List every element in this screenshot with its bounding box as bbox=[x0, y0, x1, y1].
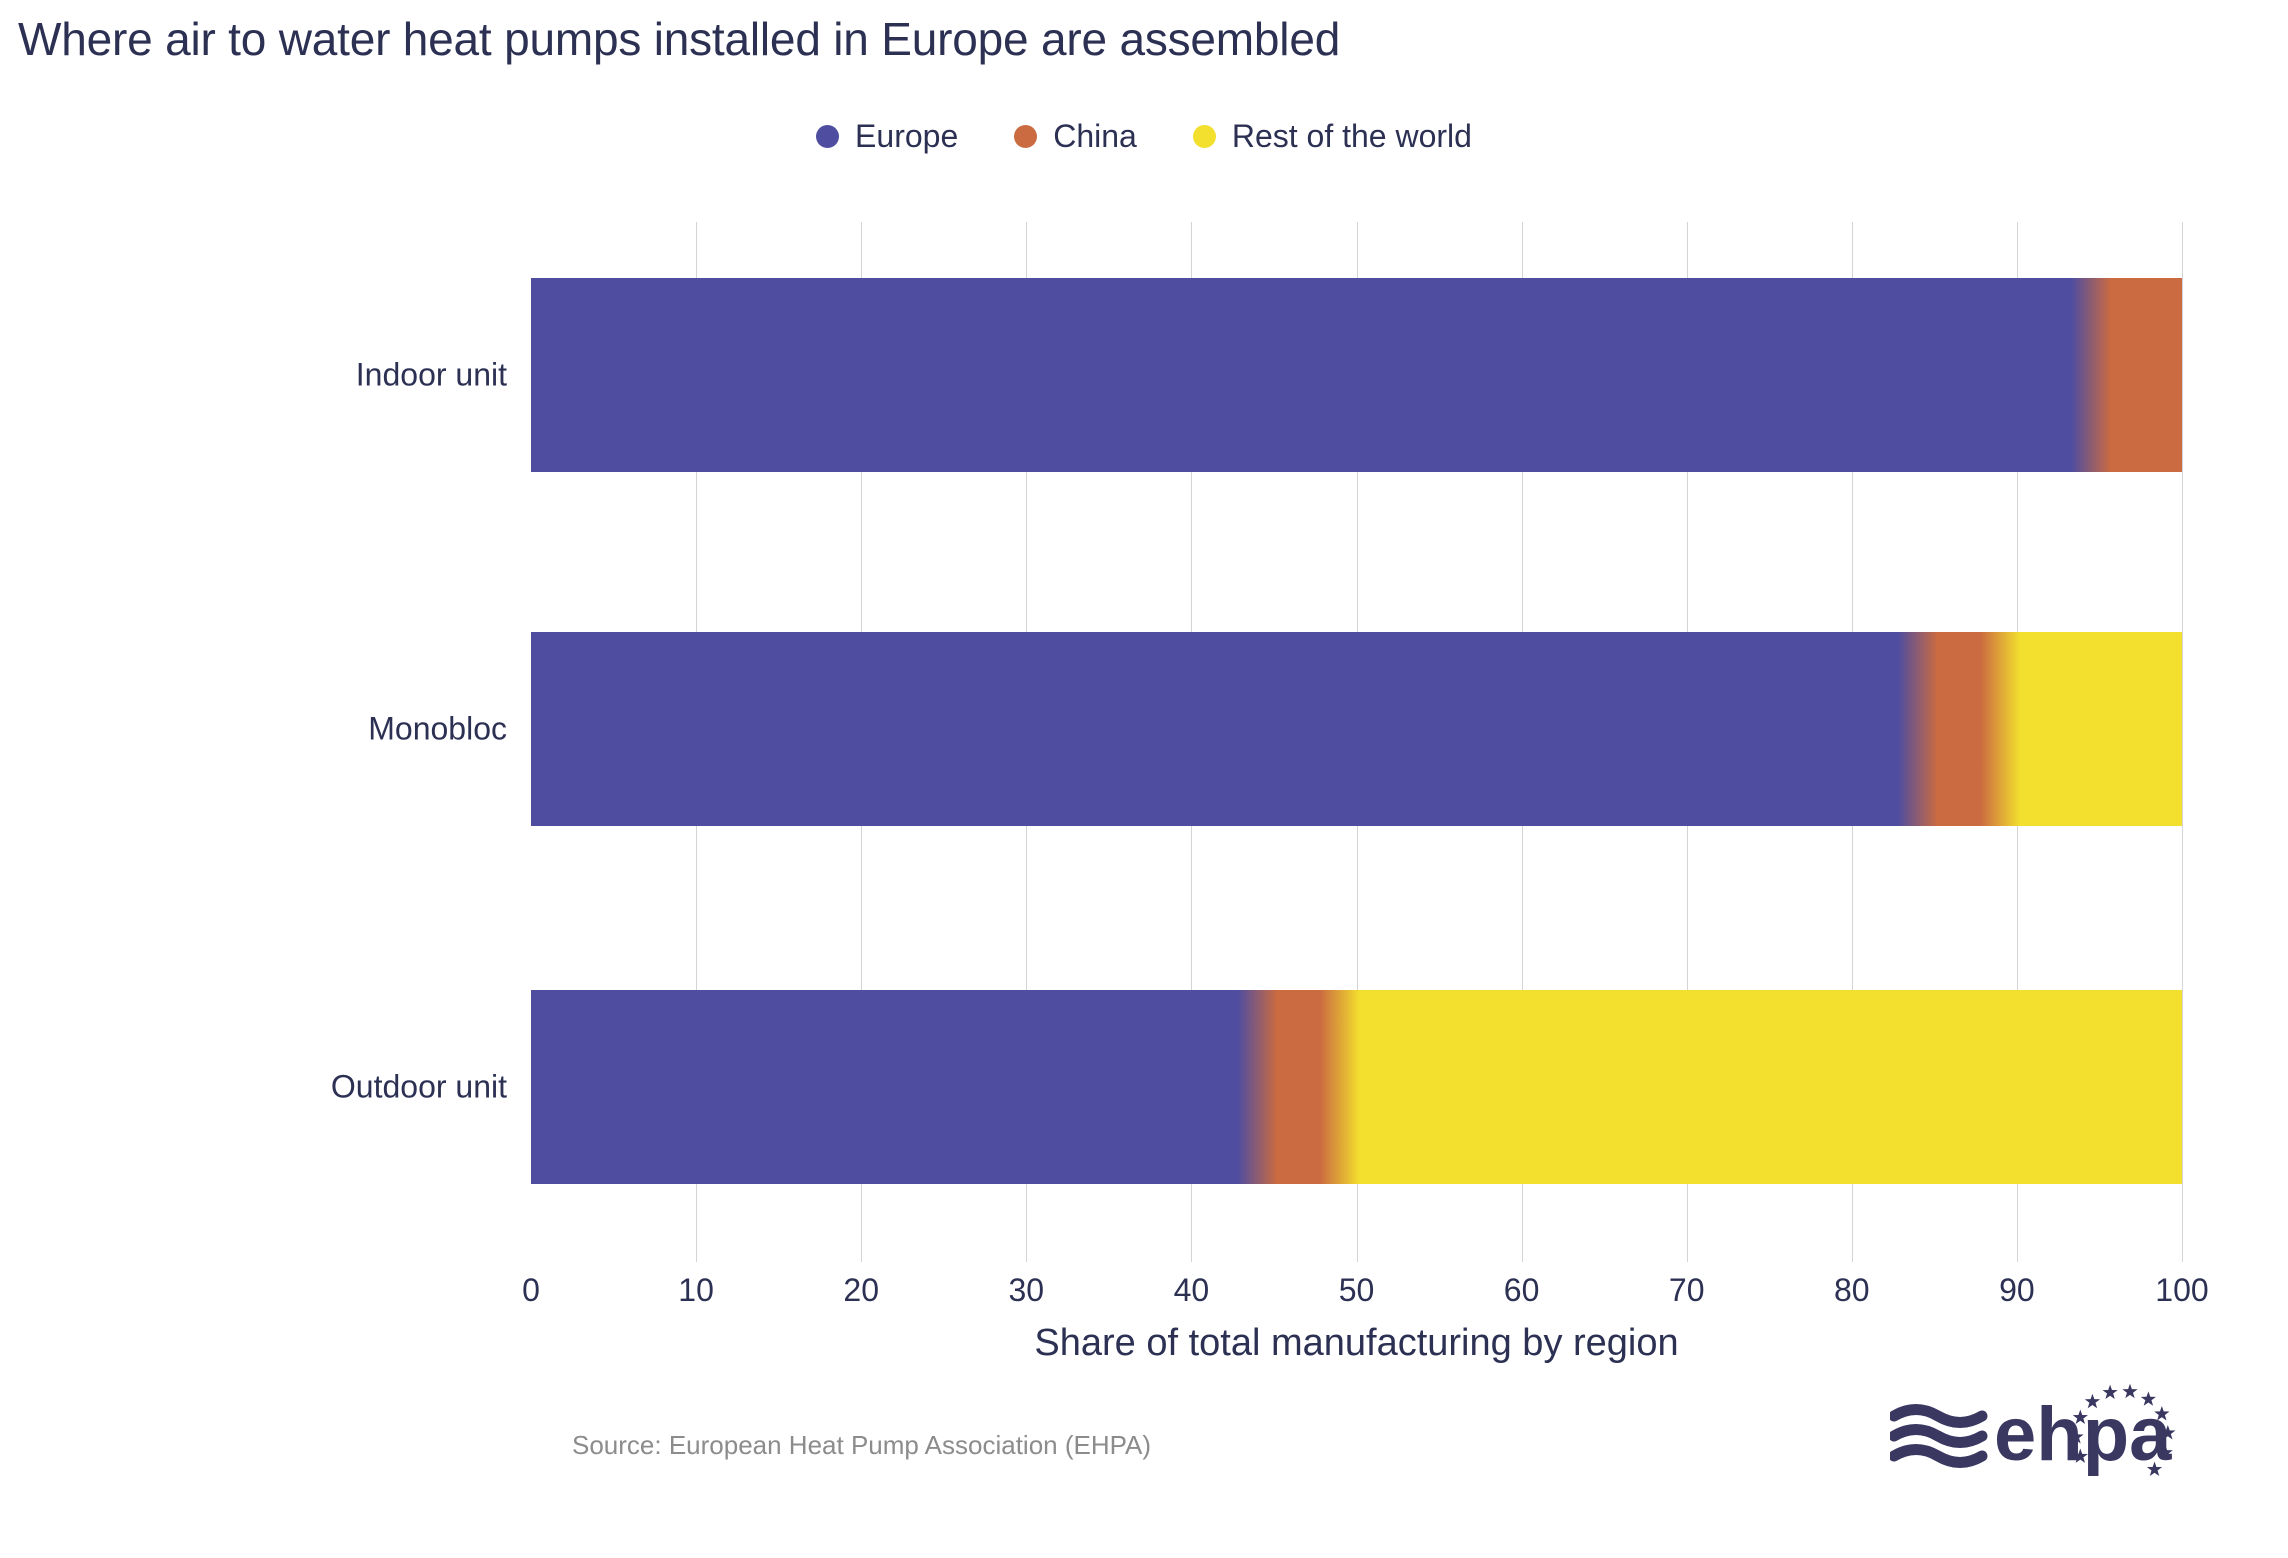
x-axis-tick-label: 100 bbox=[2155, 1272, 2208, 1309]
x-axis-tick-label: 40 bbox=[1174, 1272, 1210, 1309]
y-axis-label-monobloc: Monobloc bbox=[368, 711, 507, 748]
legend-dot-icon bbox=[816, 125, 839, 148]
x-axis-tick-label: 70 bbox=[1669, 1272, 1705, 1309]
x-axis-tick-label: 50 bbox=[1339, 1272, 1375, 1309]
x-axis-tick-label: 60 bbox=[1504, 1272, 1540, 1309]
legend-item-label: Europe bbox=[855, 118, 958, 155]
plot-area bbox=[531, 222, 2182, 1262]
bar-segment-stack[interactable] bbox=[531, 632, 2182, 826]
bar-segment-stack[interactable] bbox=[531, 990, 2182, 1184]
legend-item-label: China bbox=[1053, 118, 1137, 155]
ehpa-logo: ehpa bbox=[1890, 1382, 2190, 1497]
logo-wordmark: ehpa bbox=[1994, 1392, 2172, 1477]
x-axis-ticks: 0102030405060708090100 bbox=[531, 1272, 2182, 1320]
page-title: Where air to water heat pumps installed … bbox=[18, 12, 1340, 66]
legend-item[interactable]: Europe bbox=[816, 118, 958, 155]
source-note: Source: European Heat Pump Association (… bbox=[572, 1430, 1151, 1461]
x-axis-tick-label: 20 bbox=[843, 1272, 879, 1309]
y-axis-label-indoor-unit: Indoor unit bbox=[356, 357, 507, 394]
chart-canvas: Where air to water heat pumps installed … bbox=[0, 0, 2288, 1558]
bar-segment-stack[interactable] bbox=[531, 278, 2182, 472]
y-axis-label-outdoor-unit: Outdoor unit bbox=[331, 1069, 507, 1106]
x-axis-tick-label: 90 bbox=[1999, 1272, 2035, 1309]
legend-item-label: Rest of the world bbox=[1232, 118, 1472, 155]
x-axis-title: Share of total manufacturing by region bbox=[531, 1322, 2182, 1365]
bar-group bbox=[531, 222, 2182, 1262]
bar-row[interactable] bbox=[531, 990, 2182, 1184]
waves-icon bbox=[1894, 1410, 1982, 1463]
legend-item[interactable]: China bbox=[1014, 118, 1137, 155]
legend-dot-icon bbox=[1193, 125, 1216, 148]
x-axis-tick-label: 30 bbox=[1009, 1272, 1045, 1309]
chart-legend: EuropeChinaRest of the world bbox=[0, 118, 2288, 155]
y-axis-category-labels: Indoor unit Monobloc Outdoor unit bbox=[0, 222, 531, 1262]
gridline bbox=[2182, 222, 2183, 1262]
x-axis-tick-label: 80 bbox=[1834, 1272, 1870, 1309]
bar-row[interactable] bbox=[531, 278, 2182, 472]
x-axis-tick-label: 10 bbox=[678, 1272, 714, 1309]
x-axis-tick-label: 0 bbox=[522, 1272, 540, 1309]
bar-row[interactable] bbox=[531, 632, 2182, 826]
legend-item[interactable]: Rest of the world bbox=[1193, 118, 1472, 155]
legend-dot-icon bbox=[1014, 125, 1037, 148]
